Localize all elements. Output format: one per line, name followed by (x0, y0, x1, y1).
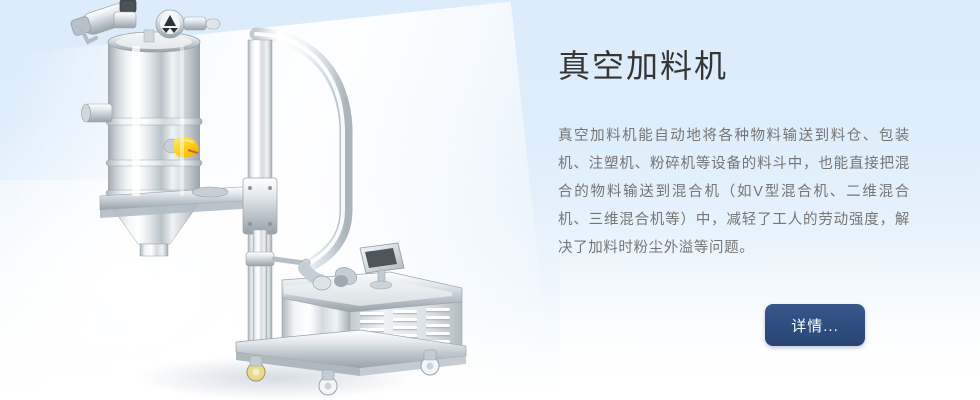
hopper-side-inlet (82, 104, 113, 122)
product-hero-banner: 真空加料机 真空加料机能自动地将各种物料输送到料仓、包装机、注塑机、粉碎机等设备… (0, 0, 980, 400)
product-description: 真空加料机能自动地将各种物料输送到料仓、包装机、注塑机、粉碎机等设备的料斗中，也… (558, 122, 910, 262)
banner-text-column: 真空加料机 真空加料机能自动地将各种物料输送到料仓、包装机、注塑机、粉碎机等设备… (558, 44, 958, 262)
page-title: 真空加料机 (558, 44, 958, 88)
trefoil-fitting (156, 10, 220, 38)
details-button[interactable]: 详情... (765, 304, 865, 346)
vacuum-feeder-machine-photo (60, 0, 480, 400)
column-inner-rail (253, 230, 267, 350)
column-slider (243, 178, 277, 234)
